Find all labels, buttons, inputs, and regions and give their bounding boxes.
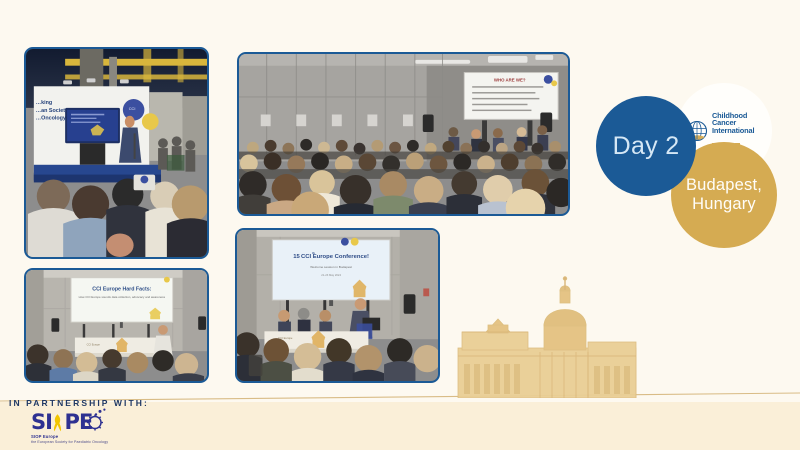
photo-panel-session[interactable]: 15 CCI Europe Conference! th Welcome ses… xyxy=(235,228,440,383)
photo-opening-ceremony[interactable]: …king …an Society …Oncology CCI xyxy=(24,47,209,259)
svg-text:CCI: CCI xyxy=(129,106,136,111)
svg-text:…Oncology: …Oncology xyxy=(36,116,66,122)
budapest-building-illustration xyxy=(452,276,642,398)
cci-logo-line3: International xyxy=(712,127,754,134)
svg-text:Welcome session in Budapest: Welcome session in Budapest xyxy=(310,265,352,269)
partnership-label: IN PARTNERSHIP WITH: xyxy=(9,398,229,408)
siope-subtitle-secondary: the European Society for Paediatric Onco… xyxy=(31,440,141,444)
svg-text:CCI Europe Hard Facts:: CCI Europe Hard Facts: xyxy=(92,286,151,292)
svg-text:…an Society: …an Society xyxy=(36,108,68,114)
svg-text:th: th xyxy=(312,251,315,255)
svg-text:21-23 May 2024: 21-23 May 2024 xyxy=(321,273,341,277)
siope-logo: SI PE S xyxy=(31,412,141,448)
awareness-ribbon-icon xyxy=(51,413,64,432)
siope-wordmark: SI PE xyxy=(31,412,141,433)
svg-text:How CCI Europe sounds data col: How CCI Europe sounds data collection, a… xyxy=(79,295,166,299)
svg-text:CCI Europe: CCI Europe xyxy=(87,343,101,346)
location-line1: Budapest, xyxy=(686,176,762,194)
day-badge: Day 2 xyxy=(596,96,696,196)
partnership-section: IN PARTNERSHIP WITH: SI PE xyxy=(9,398,229,450)
svg-text:…king: …king xyxy=(36,100,52,106)
svg-text:15 CCI Europe Conference!: 15 CCI Europe Conference! xyxy=(293,254,369,260)
day-badge-label: Day 2 xyxy=(613,132,680,161)
sparkle-dots-icon xyxy=(93,408,107,417)
svg-text:WHO ARE WE?: WHO ARE WE? xyxy=(494,77,526,82)
siope-subtitle-primary: SIOP Europe xyxy=(31,434,141,439)
location-line2: Hungary xyxy=(692,195,756,213)
photo-hard-facts[interactable]: CCI Europe Hard Facts: How CCI Europe so… xyxy=(24,268,209,383)
photo-plenary-audience[interactable]: WHO ARE WE? xyxy=(237,52,570,216)
